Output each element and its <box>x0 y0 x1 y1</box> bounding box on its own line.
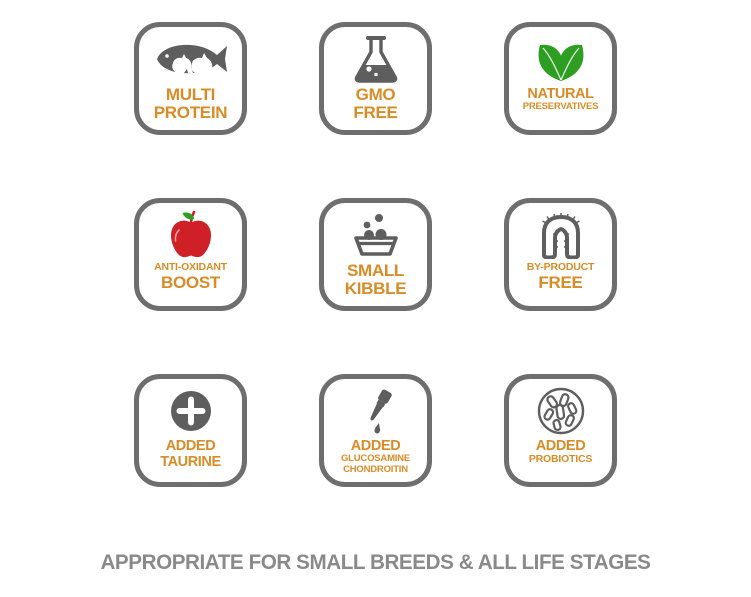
badge-label-line: SMALL <box>324 262 427 280</box>
badge-added-glucosamine-chondroitin: ADDED GLUCOSAMINE CHONDROITIN <box>319 374 432 487</box>
badge-multi-protein: MULTI PROTEIN <box>134 22 247 135</box>
badge-cell: ADDED GLUCOSAMINE CHONDROITIN <box>283 374 468 550</box>
badge-label-line: NATURAL <box>509 86 612 102</box>
dropper-icon <box>330 386 422 436</box>
badge-grid: MULTI PROTEIN GMO <box>0 0 751 500</box>
badge-label: ADDED PROBIOTICS <box>509 438 612 466</box>
badge-label: ADDED TAURINE <box>139 438 242 470</box>
badge-cell: ADDED TAURINE <box>98 374 283 550</box>
bowl-kibble-icon <box>330 210 422 260</box>
badge-by-product-free: BY-PRODUCT FREE <box>504 198 617 311</box>
probiotics-icon <box>515 386 607 436</box>
plus-circle-icon <box>145 386 237 436</box>
fish-and-chicken-icon <box>145 34 237 84</box>
badge-cell: MULTI PROTEIN <box>98 22 283 198</box>
badge-cell: ADDED PROBIOTICS <box>468 374 653 550</box>
badge-label-line: TAURINE <box>139 454 242 470</box>
badge-label: GMO FREE <box>324 86 427 122</box>
badge-label: BY-PRODUCT FREE <box>509 262 612 292</box>
badge-anti-oxidant-boost: ANTI-OXIDANT BOOST <box>134 198 247 311</box>
badge-natural-preservatives: NATURAL PRESERVATIVES <box>504 22 617 135</box>
badge-small-kibble: SMALL KIBBLE <box>319 198 432 311</box>
footer: APPROPRIATE FOR SMALL BREEDS & ALL LIFE … <box>0 550 751 575</box>
badge-label-line: PROTEIN <box>139 104 242 122</box>
badge-label-line: ADDED <box>324 438 427 454</box>
badge-label: NATURAL PRESERVATIVES <box>509 86 612 113</box>
badge-cell: BY-PRODUCT FREE <box>468 198 653 374</box>
intestine-icon <box>515 210 607 260</box>
badge-label: ANTI-OXIDANT BOOST <box>139 262 242 292</box>
badge-label-line: ANTI-OXIDANT <box>139 262 242 274</box>
badge-cell: NATURAL PRESERVATIVES <box>468 22 653 198</box>
feature-badges-panel: MULTI PROTEIN GMO <box>0 0 751 597</box>
badge-label: MULTI PROTEIN <box>139 86 242 122</box>
badge-label-line: MULTI <box>139 86 242 104</box>
badge-cell: ANTI-OXIDANT BOOST <box>98 198 283 374</box>
badge-label-line: KIBBLE <box>324 280 427 298</box>
badge-label-line: GMO <box>324 86 427 104</box>
flask-icon <box>330 34 422 84</box>
badge-label-line: PROBIOTICS <box>509 454 612 466</box>
badge-label: ADDED GLUCOSAMINE CHONDROITIN <box>324 438 427 475</box>
badge-label: SMALL KIBBLE <box>324 262 427 298</box>
badge-label-line: FREE <box>509 274 612 292</box>
badge-added-probiotics: ADDED PROBIOTICS <box>504 374 617 487</box>
badge-label-line: CHONDROITIN <box>324 465 427 476</box>
badge-cell: SMALL KIBBLE <box>283 198 468 374</box>
badge-gmo-free: GMO FREE <box>319 22 432 135</box>
badge-label-line: BY-PRODUCT <box>509 262 612 274</box>
badge-label-line: ADDED <box>509 438 612 454</box>
badge-label-line: PRESERVATIVES <box>509 102 612 113</box>
badge-added-taurine: ADDED TAURINE <box>134 374 247 487</box>
badge-cell: GMO FREE <box>283 22 468 198</box>
apple-icon <box>145 210 237 260</box>
leaves-icon <box>515 34 607 84</box>
badge-label-line: GLUCOSAMINE <box>324 454 427 465</box>
badge-label-line: FREE <box>324 104 427 122</box>
badge-label-line: BOOST <box>139 274 242 292</box>
badge-label-line: ADDED <box>139 438 242 454</box>
footer-tagline: APPROPRIATE FOR SMALL BREEDS & ALL LIFE … <box>100 550 650 575</box>
